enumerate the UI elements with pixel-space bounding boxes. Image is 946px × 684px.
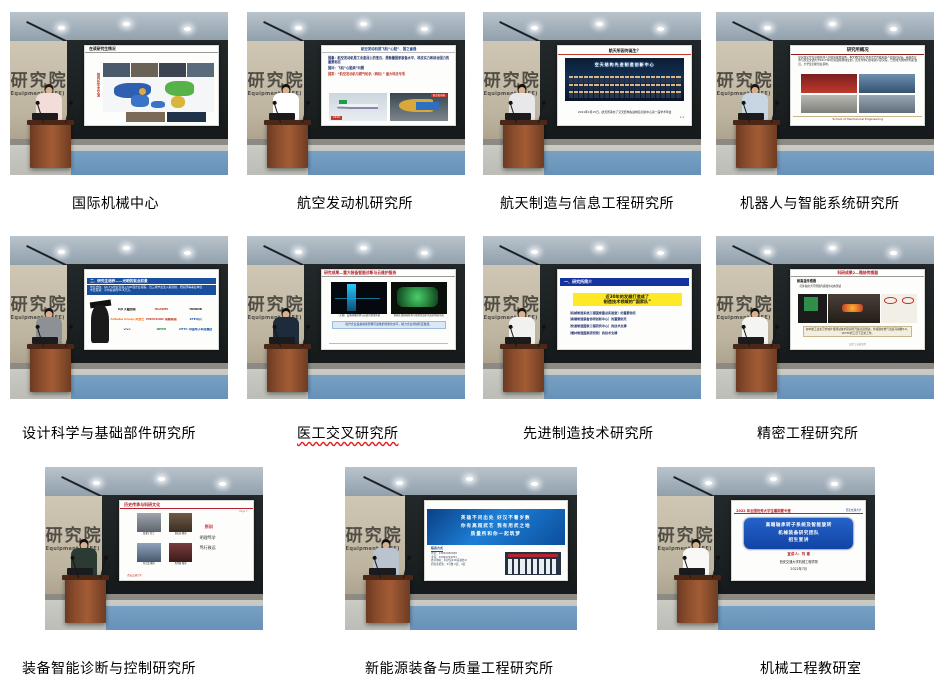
laptop xyxy=(269,113,295,120)
slide-motto-line: 明理笃学 xyxy=(200,535,216,540)
gallery-item: 研究院Equipment (IAFE)一、研究所简介一、研究所简介近30年的发展… xyxy=(483,236,701,399)
podium-top xyxy=(363,575,412,580)
ceiling-lamp xyxy=(360,246,367,250)
ceiling-beam xyxy=(674,476,718,498)
lecture-room-scene: 研究院Equipment (IAFE)二、研究生培养——光明的就业前景二、研究生… xyxy=(10,236,228,399)
slide-subtitle: 耐高温传感器 xyxy=(797,279,816,283)
projector-screen[interactable]: 研究成果—重大装备智能诊断与云维护服务（左图）设备健康管理与运维的管理系统智能在… xyxy=(321,269,456,351)
gallery-photo[interactable]: 研究院Equipment (IAFE)科研成果2—微纳传感器耐高温传感器红外辐射… xyxy=(716,236,934,399)
slide-bullet: 国策：“航空发动机与燃气轮机（两机）” 重大科技专项 xyxy=(328,72,449,77)
projector-screen[interactable]: 历史传承与科研文化Page 3屈梁生 院士谢友柏 教授何正嘉 教授陈雪峰 教授所… xyxy=(119,500,254,582)
ceiling-lamp xyxy=(123,246,130,250)
podium xyxy=(503,120,544,169)
slide-portrait-name: 陈雪峰 教授 xyxy=(167,563,195,566)
projector-screen[interactable]: 航天所因何诞生？空天结构先进制造创新中心2021年4月15日，航天所承办了空天结… xyxy=(557,45,692,127)
podium xyxy=(736,344,777,393)
gallery-photo[interactable]: 研究院Equipment (IAFE)航天所因何诞生？空天结构先进制造创新中心2… xyxy=(483,12,701,175)
slide-org: 西安交通大学机械工程学院 xyxy=(734,560,863,564)
lecture-room-scene: 研究院Equipment (IAFE)航空发动机是飞机“心脏”、国之重器国事：航… xyxy=(247,12,465,175)
slide-photo-label: 智能在线智能检测与预测性维护系统的智能系统 xyxy=(391,314,447,317)
slide-org: 西安交通大学 xyxy=(127,574,141,577)
ceiling-lamp xyxy=(184,251,191,255)
slide-title: 2022 年全国优秀大学生暑期夏令营 xyxy=(736,509,791,513)
ceiling-lamp xyxy=(890,251,897,255)
lecture-room-scene: 研究院Equipment (IAFE)2022 年全国优秀大学生暑期夏令营202… xyxy=(657,467,875,630)
slide-logo: DJI 大疆创新 xyxy=(110,308,143,312)
ceiling-lamp xyxy=(466,477,473,481)
ceiling-lamp xyxy=(657,251,664,255)
gallery-caption: 设计科学与基础部件研究所 xyxy=(22,427,196,441)
ceiling-lamp xyxy=(764,250,771,254)
gallery-item: 研究院Equipment (IAFE)科研成果2—微纳传感器耐高温传感器红外辐射… xyxy=(716,236,934,399)
slide-bullet: 毕业薪资：平均薪资约31.8万元。 xyxy=(90,289,213,293)
slide-title: 历史传承与科研文化 xyxy=(120,501,253,509)
podium xyxy=(267,344,308,393)
blue-carpet xyxy=(544,375,701,399)
gallery-photo[interactable]: 研究院Equipment (IAFE)研究成果—重大装备智能诊断与云维护服务（左… xyxy=(247,236,465,399)
slide-banner-line: 质量所和你一起筑梦 xyxy=(471,532,521,538)
ceiling-lamp xyxy=(596,22,603,26)
podium xyxy=(503,344,544,393)
blue-carpet xyxy=(308,151,465,175)
laptop xyxy=(505,113,531,120)
ceiling-lamp xyxy=(890,27,897,31)
slide-contact: 研究生招生：2号楼 2层、4层 xyxy=(431,563,503,567)
gallery-photo[interactable]: 研究院Equipment (IAFE)航空发动机是飞机“心脏”、国之重器国事：航… xyxy=(247,12,465,175)
lecture-room-scene: 研究院Equipment (IAFE)科研成果2—微纳传感器耐高温传感器红外辐射… xyxy=(716,236,934,399)
ceiling-lamp xyxy=(123,22,130,26)
slide-headline-line: 机械装备研究团队 xyxy=(778,531,819,537)
ceiling-lamp xyxy=(657,27,664,31)
slide-title: 航空发动机是飞机“心脏”、国之重器 xyxy=(322,46,455,53)
ceiling-lamp xyxy=(360,22,367,26)
projector-screen[interactable]: 研究所概况研究所定位为高端机器人创新装备类载体，本文依托西安交通大学智能机器人创… xyxy=(790,45,925,127)
lecture-room-scene: 研究院Equipment (IAFE)历史传承与科研文化Page 3屈梁生 院士… xyxy=(45,467,263,630)
slide-bullet: 红外辐射大环测温传感器的动态测试 xyxy=(800,285,842,288)
slide-bullet: 〔增材制造国家研究院〕的技术支撑 xyxy=(568,331,684,335)
lecture-room-scene: 研究院Equipment (IAFE)研究所概况研究所定位为高端机器人创新装备类… xyxy=(716,12,934,175)
slide-footer: 在中航工业北京长城计量测试技术研究所开展高温测试，传感器在燃气温度马赫数0.6、… xyxy=(803,326,912,337)
slide-title: 科研成果2—微纳传感器 xyxy=(791,270,924,278)
slide-title: 研究成果—重大装备智能诊断与云维护服务 xyxy=(322,270,455,278)
podium xyxy=(366,575,410,624)
slide-headline-line: 招生宣讲 xyxy=(788,538,808,544)
lecture-room-scene: 研究院Equipment (IAFE)一、研究所简介一、研究所简介近30年的发展… xyxy=(483,236,701,399)
slide-logo: Alibaba Group 阿里巴巴集团 xyxy=(110,318,143,322)
slide-portrait-name: 屈梁生 院士 xyxy=(135,533,163,536)
slide-page-number: Page 3 xyxy=(239,510,247,513)
ceiling-lamp xyxy=(58,26,65,30)
gallery-photo[interactable]: 研究院Equipment (IAFE)历史传承与科研文化Page 3屈梁生 院士… xyxy=(45,467,263,630)
slide-headline-line: 高端轴承转子系统及智能旋转 xyxy=(766,523,832,529)
slide-footer: 提升企业设备健康管理与运维的智能化水平，助力企业持续稳定发展。 xyxy=(332,321,446,328)
gallery-photo[interactable]: 研究院Equipment (IAFE)二、研究生培养——光明的就业前景二、研究生… xyxy=(10,236,228,399)
ceiling-lamp xyxy=(58,250,65,254)
podium xyxy=(736,120,777,169)
laptop xyxy=(32,337,58,344)
slide-logo: CETC 中国电子科技集团公司 xyxy=(179,328,212,332)
slide-logo: OPPO xyxy=(145,328,178,332)
slide-footer: 2021年4月15日，航天所承办了空天结构先进制造创新中心第一届学术年会 xyxy=(565,111,684,114)
projector-screen[interactable]: 二、研究生培养——光明的就业前景二、研究生培养——光明的就业前景毕业去向：60.… xyxy=(84,269,219,351)
lecture-room-scene: 研究院Equipment (IAFE)航天所因何诞生？空天结构先进制造创新中心2… xyxy=(483,12,701,175)
gallery-caption: 医工交叉研究所 xyxy=(297,427,399,441)
ceiling-beam xyxy=(733,245,777,267)
slide-portrait-name: 何正嘉 教授 xyxy=(135,563,163,566)
blue-carpet xyxy=(544,151,701,175)
ceiling-lamp xyxy=(219,482,226,486)
gallery-item: 研究院Equipment (IAFE)在读研究生情况国内外学术交流 xyxy=(10,12,228,175)
gallery-caption: 机械工程教研室 xyxy=(760,662,862,676)
ceiling-lamp xyxy=(531,26,538,30)
ceiling-beam xyxy=(500,245,544,267)
gallery-item: 研究院Equipment (IAFE)二、研究生培养——光明的就业前景二、研究生… xyxy=(10,236,228,399)
gallery-item: 研究院Equipment (IAFE)研究所概况研究所定位为高端机器人创新装备类… xyxy=(716,12,934,175)
slide-body: 研究所定位为高端机器人创新装备类载体，本文依托西安交通大学智能机器人创新研究院，… xyxy=(798,56,917,74)
slide-title: 一、研究所简介 xyxy=(560,278,689,286)
slide-logo: HIKVISION 海康威视 xyxy=(145,318,178,322)
laptop xyxy=(738,337,764,344)
projector-screen[interactable]: 2022 年全国优秀大学生暑期夏令营2022 年全国优秀大学生暑期夏令营西安交通… xyxy=(731,500,866,582)
blue-carpet xyxy=(106,606,263,630)
slide-bullet: 国事：航空发动机是工业皇冠上的宝石，是衡量国家装备水平、科技实力和综合国力的重要… xyxy=(328,56,449,65)
gallery-caption: 装备智能诊断与控制研究所 xyxy=(22,662,196,676)
slide-logo: ZTE中兴 xyxy=(179,318,212,322)
blue-carpet xyxy=(308,375,465,399)
blue-carpet xyxy=(71,375,228,399)
blue-carpet xyxy=(71,151,228,175)
laptop xyxy=(505,337,531,344)
ceiling-lamp xyxy=(829,246,836,250)
slide-page-footer: 航空工业研究所 xyxy=(793,343,922,346)
slide-motto-line: 笃行致远 xyxy=(200,545,216,550)
gallery-item: 研究院Equipment (IAFE)2022 年全国优秀大学生暑期夏令营202… xyxy=(657,467,875,630)
slide-portrait-name: 谢友柏 教授 xyxy=(167,533,195,536)
gallery-photo[interactable]: 研究院Equipment (IAFE)一、研究所简介一、研究所简介近30年的发展… xyxy=(483,236,701,399)
laptop xyxy=(679,568,705,575)
slide-university: 西安交通大学 xyxy=(846,509,862,512)
gallery-item: 研究院Equipment (IAFE)历史传承与科研文化Page 3屈梁生 院士… xyxy=(45,467,263,630)
gallery-item: 研究院Equipment (IAFE)英雄不问出处 好汉不看岁数英雄不问出处 好… xyxy=(345,467,577,630)
slide-side-label: 国内外学术交流 xyxy=(88,73,100,97)
projector-screen[interactable]: 在读研究生情况国内外学术交流 xyxy=(84,45,219,127)
slide-bullet: 国问：飞机“心脏病”问题 xyxy=(328,66,449,71)
laptop xyxy=(738,113,764,120)
slide-footer: School of Mechanical Engineering xyxy=(793,116,922,122)
projector-screen[interactable]: 一、研究所简介一、研究所简介近30年的发展打造成了 制造技术领域的“国家队”〔机… xyxy=(557,269,692,351)
projector-screen[interactable]: 航空发动机是飞机“心脏”、国之重器国事：航空发动机是工业皇冠上的宝石，是衡量国家… xyxy=(321,45,456,127)
ceiling-lamp xyxy=(295,250,302,254)
podium xyxy=(267,120,308,169)
ceiling-beam xyxy=(733,21,777,43)
slide-bullet: 〔快速制造国家工程研究中心〕的技术支撑 xyxy=(568,324,684,328)
slide-page-number: 1.2 xyxy=(680,116,684,119)
ceiling-lamp xyxy=(531,250,538,254)
gallery-caption: 新能源装备与质量工程研究所 xyxy=(365,662,554,676)
slide-bullet: 〔机械制造系统工程国家重点实验室〕的重要依托 xyxy=(568,311,684,315)
ceiling-lamp xyxy=(421,251,428,255)
slide-logo: HONOR xyxy=(179,308,212,312)
slide-highlight: 近30年的发展打造成了 制造技术领域的“国家队” xyxy=(573,293,682,306)
gallery-photo[interactable]: 研究院Equipment (IAFE)研究所概况研究所定位为高端机器人创新装备类… xyxy=(716,12,934,175)
lecture-room-scene: 研究院Equipment (IAFE)研究成果—重大装备智能诊断与云维护服务（左… xyxy=(247,236,465,399)
ceiling-lamp xyxy=(158,477,165,481)
blue-carpet xyxy=(718,606,875,630)
slide-logo: HUAWEI xyxy=(145,308,178,312)
slide-title: 在读研究生情况 xyxy=(85,46,218,54)
gallery-caption: 精密工程研究所 xyxy=(757,427,859,441)
podium xyxy=(30,120,71,169)
gallery-item: 研究院Equipment (IAFE)航天所因何诞生？空天结构先进制造创新中心2… xyxy=(483,12,701,175)
lecture-room-scene: 研究院Equipment (IAFE)英雄不问出处 好汉不看岁数英雄不问出处 好… xyxy=(345,467,577,630)
podium xyxy=(30,344,71,393)
ceiling-lamp xyxy=(764,26,771,30)
slide-banner: 空天结构先进制造创新中心 xyxy=(575,62,675,67)
ceiling-lamp xyxy=(531,482,538,486)
gallery-photo[interactable]: 研究院Equipment (IAFE)2022 年全国优秀大学生暑期夏令营202… xyxy=(657,467,875,630)
ceiling-lamp xyxy=(831,482,838,486)
ceiling-lamp xyxy=(770,477,777,481)
projector-screen[interactable]: 科研成果2—微纳传感器耐高温传感器红外辐射大环测温传感器的动态测试在中航工业北京… xyxy=(790,269,925,351)
ceiling-lamp xyxy=(705,481,712,485)
ceiling-lamp xyxy=(396,481,403,485)
blue-carpet xyxy=(777,151,934,175)
slide-banner-line: 你有高超武艺 我有用武之地 xyxy=(461,524,531,530)
laptop xyxy=(269,337,295,344)
gallery-caption: 国际机械中心 xyxy=(72,197,159,211)
photo-gallery: 研究院Equipment (IAFE)在读研究生情况国内外学术交流国际机械中心研… xyxy=(0,0,946,684)
blue-carpet xyxy=(410,606,577,630)
blue-carpet xyxy=(777,375,934,399)
slide-date: 2022年7月 xyxy=(734,567,863,571)
gallery-item: 研究院Equipment (IAFE)航空发动机是飞机“心脏”、国之重器国事：航… xyxy=(247,12,465,175)
ceiling-beam xyxy=(62,476,106,498)
gallery-caption: 先进制造技术研究所 xyxy=(523,427,654,441)
laptop xyxy=(67,568,93,575)
lecture-room-scene: 研究院Equipment (IAFE)在读研究生情况国内外学术交流 xyxy=(10,12,228,175)
gallery-caption: 航天制造与信息工程研究所 xyxy=(500,197,674,211)
ceiling-lamp xyxy=(93,481,100,485)
ceiling-beam xyxy=(500,21,544,43)
podium xyxy=(677,575,718,624)
ceiling-lamp xyxy=(295,26,302,30)
ceiling-beam xyxy=(264,245,308,267)
ceiling-lamp xyxy=(829,22,836,26)
podium xyxy=(65,575,106,624)
slide-banner-line: 英雄不问出处 好汉不看岁数 xyxy=(461,516,531,522)
laptop xyxy=(32,113,58,120)
laptop xyxy=(369,568,396,575)
ceiling-beam xyxy=(264,21,308,43)
slide-bullet: 〔高端制造装备协同创新中心〕的重要依托 xyxy=(568,317,684,321)
slide-presenter: 宣讲人：刘 意 xyxy=(734,552,863,556)
projector-screen[interactable]: 英雄不问出处 好汉不看岁数英雄不问出处 好汉不看岁数你有高超武艺 我有用武之地质… xyxy=(424,500,568,582)
ceiling-lamp xyxy=(421,27,428,31)
gallery-photo[interactable]: 研究院Equipment (IAFE)在读研究生情况国内外学术交流 xyxy=(10,12,228,175)
ceiling-beam xyxy=(27,21,71,43)
ceiling-lamp xyxy=(184,27,191,31)
ceiling-lamp xyxy=(596,246,603,250)
slide-logo: vivo xyxy=(110,328,143,332)
gallery-caption: 航空发动机研究所 xyxy=(297,197,413,211)
slide-photo-label: （左图）设备健康管理与运维的管理系统 xyxy=(331,314,387,317)
slide-motto-title: 所训 xyxy=(205,524,213,529)
gallery-caption: 机器人与智能系统研究所 xyxy=(740,197,900,211)
gallery-photo[interactable]: 研究院Equipment (IAFE)英雄不问出处 好汉不看岁数英雄不问出处 好… xyxy=(345,467,577,630)
slide-title: 二、研究生培养——光明的就业前景 xyxy=(87,278,216,284)
gallery-item: 研究院Equipment (IAFE)研究成果—重大装备智能诊断与云维护服务（左… xyxy=(247,236,465,399)
ceiling-beam xyxy=(27,245,71,267)
